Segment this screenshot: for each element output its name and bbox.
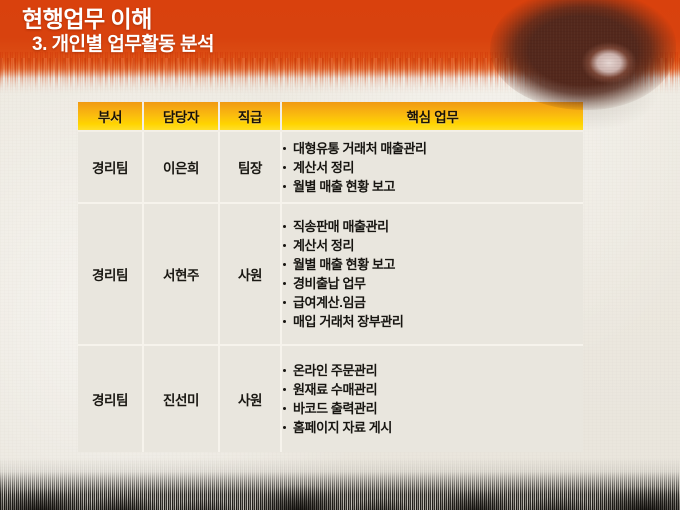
list-item: 원재료 수매관리: [282, 380, 583, 399]
cell-owner: 서현주: [144, 204, 220, 346]
slide-title-block: 현행업무 이해 3. 개인별 업무활동 분석: [22, 6, 214, 57]
page-title: 현행업무 이해: [22, 6, 214, 32]
cell-dept: 경리팀: [78, 346, 144, 452]
photo-grain-overlay: [490, 0, 676, 110]
list-item: 계산서 정리: [282, 236, 583, 255]
work-activity-table-container: 부서 담당자 직급 핵심 업무 경리팀 이은희 팀장 대형유통 거래처 매출관리…: [78, 102, 583, 452]
column-header-rank: 직급: [220, 102, 282, 132]
cell-rank: 팀장: [220, 132, 282, 204]
list-item: 매입 거래처 장부관리: [282, 312, 583, 331]
presentation-slide: 현행업무 이해 3. 개인별 업무활동 분석 부서 담당자 직급 핵심 업무: [0, 0, 680, 510]
list-item: 경비출납 업무: [282, 274, 583, 293]
korean-food-bowl-photo: [490, 0, 676, 110]
ink-brush-band-texture: [0, 466, 680, 510]
table-row: 경리팀 진선미 사원 온라인 주문관리 원재료 수매관리 바코드 출력관리 홈페…: [78, 346, 583, 452]
cell-rank: 사원: [220, 204, 282, 346]
page-subtitle: 3. 개인별 업무활동 분석: [32, 34, 214, 57]
cell-rank: 사원: [220, 346, 282, 452]
list-item: 온라인 주문관리: [282, 361, 583, 380]
task-list: 직송판매 매출관리 계산서 정리 월별 매출 현황 보고 경비출납 업무 급여계…: [282, 217, 583, 331]
column-header-owner: 담당자: [144, 102, 220, 132]
cell-dept: 경리팀: [78, 132, 144, 204]
list-item: 대형유통 거래처 매출관리: [282, 139, 583, 158]
list-item: 홈페이지 자료 게시: [282, 418, 583, 437]
list-item: 직송판매 매출관리: [282, 217, 583, 236]
cell-tasks: 대형유통 거래처 매출관리 계산서 정리 월별 매출 현황 보고: [282, 132, 583, 204]
list-item: 계산서 정리: [282, 158, 583, 177]
task-list: 대형유통 거래처 매출관리 계산서 정리 월별 매출 현황 보고: [282, 139, 583, 196]
cell-owner: 진선미: [144, 346, 220, 452]
table-body: 경리팀 이은희 팀장 대형유통 거래처 매출관리 계산서 정리 월별 매출 현황…: [78, 132, 583, 452]
cell-tasks: 온라인 주문관리 원재료 수매관리 바코드 출력관리 홈페이지 자료 게시: [282, 346, 583, 452]
cell-tasks: 직송판매 매출관리 계산서 정리 월별 매출 현황 보고 경비출납 업무 급여계…: [282, 204, 583, 346]
table-row: 경리팀 서현주 사원 직송판매 매출관리 계산서 정리 월별 매출 현황 보고 …: [78, 204, 583, 346]
cell-dept: 경리팀: [78, 204, 144, 346]
column-header-dept: 부서: [78, 102, 144, 132]
work-activity-table: 부서 담당자 직급 핵심 업무 경리팀 이은희 팀장 대형유통 거래처 매출관리…: [78, 102, 583, 452]
cell-owner: 이은희: [144, 132, 220, 204]
list-item: 바코드 출력관리: [282, 399, 583, 418]
list-item: 월별 매출 현황 보고: [282, 177, 583, 196]
list-item: 월별 매출 현황 보고: [282, 255, 583, 274]
task-list: 온라인 주문관리 원재료 수매관리 바코드 출력관리 홈페이지 자료 게시: [282, 361, 583, 437]
table-row: 경리팀 이은희 팀장 대형유통 거래처 매출관리 계산서 정리 월별 매출 현황…: [78, 132, 583, 204]
list-item: 급여계산.임금: [282, 293, 583, 312]
